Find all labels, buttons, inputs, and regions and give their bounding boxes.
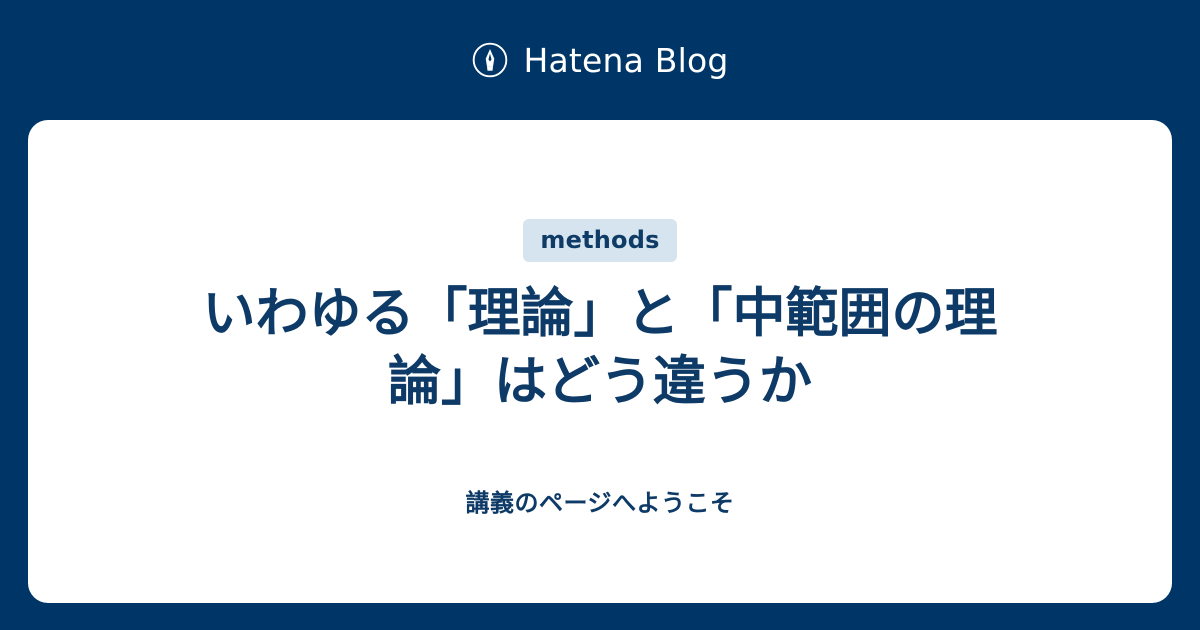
og-image-root: Hatena Blog methods いわゆる「理論」と「中範囲の理論」はどう… [0,0,1200,630]
entry-card-content: methods いわゆる「理論」と「中範囲の理論」はどう違うか 講義のページへよ… [28,120,1172,515]
category-badge[interactable]: methods [523,219,676,262]
brand-name: Hatena Blog [523,44,728,77]
entry-title: いわゆる「理論」と「中範囲の理論」はどう違うか [200,280,1000,416]
pen-nib-circle-icon [471,41,509,79]
blog-subtitle: 講義のページへようこそ [465,491,734,515]
site-header: Hatena Blog [0,0,1200,120]
entry-card: methods いわゆる「理論」と「中範囲の理論」はどう違うか 講義のページへよ… [28,120,1172,603]
